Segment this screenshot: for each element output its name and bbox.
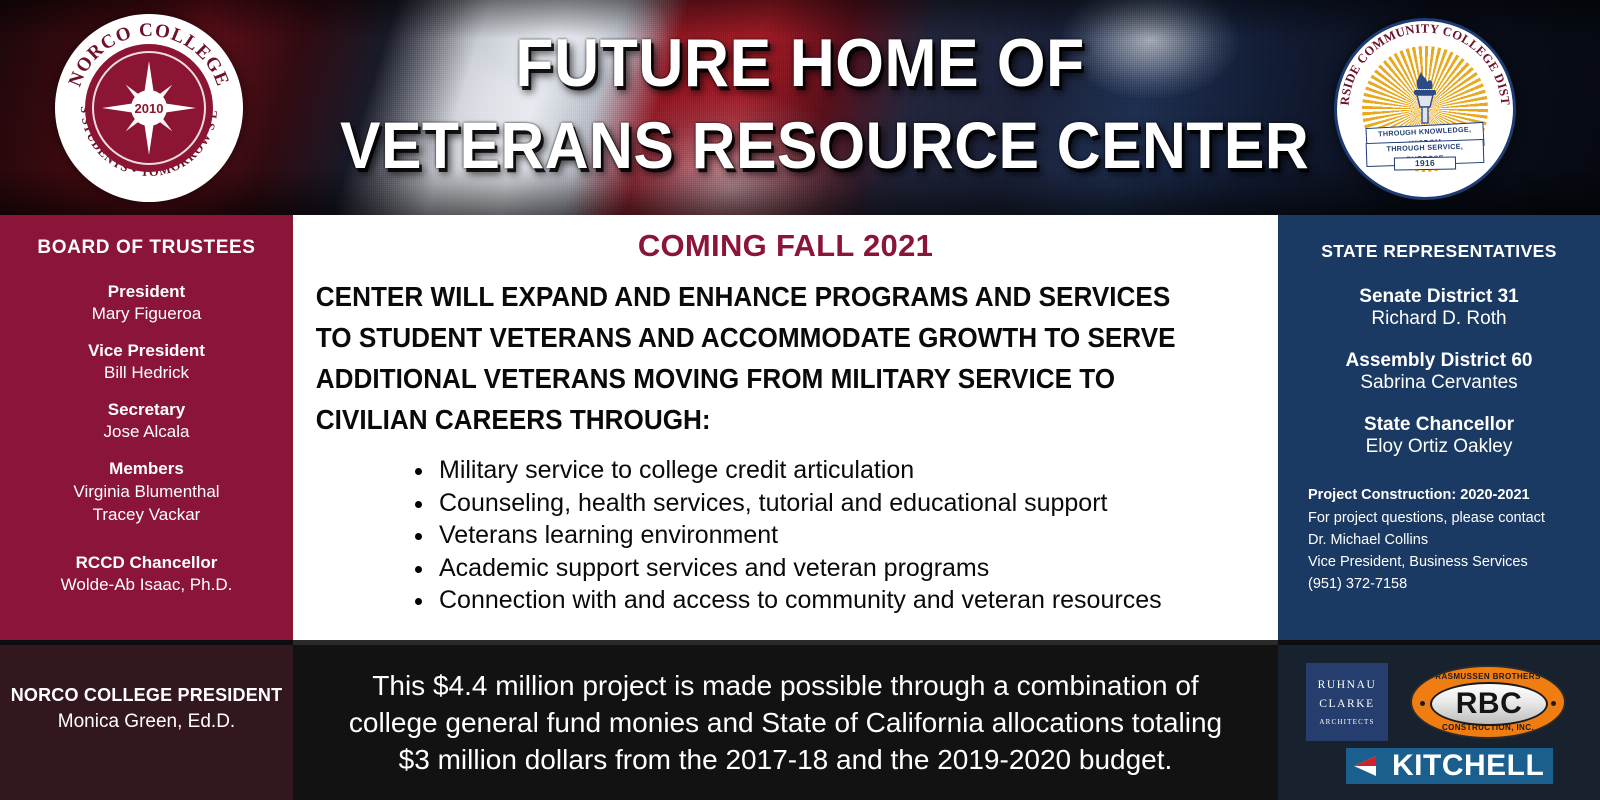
project-contact-name: Dr. Michael Collins [1308, 529, 1600, 551]
assembly-district-60-role: Assembly District 60 [1278, 350, 1600, 372]
senate-district-31: Senate District 31 Richard D. Roth [1278, 286, 1600, 330]
rbc-logo-top-text: RASMUSSEN BROTHERS [1412, 672, 1564, 681]
hero-banner: FUTURE HOME OF VETERANS RESOURCE CENTER … [0, 0, 1600, 215]
trustee-president: President Mary Figueroa [0, 281, 293, 325]
kitchell-triangle-mark-icon [1346, 748, 1386, 784]
ruhnau-logo-line-2: CLARKE [1306, 695, 1388, 714]
rbc-logo-dot-left [1420, 701, 1425, 706]
trustee-member-name-1: Virginia Blumenthal [0, 480, 293, 503]
description-line-3: ADDITIONAL VETERANS MOVING FROM MILITARY… [316, 358, 1208, 399]
funding-line-3: $3 million dollars from the 2017-18 and … [399, 744, 1173, 775]
rbc-logo-bottom-text: CONSTRUCTION, INC. [1412, 723, 1564, 732]
trustee-members: Members Virginia Blumenthal Tracey Vacka… [0, 458, 293, 526]
trustee-member-name-2: Tracey Vackar [0, 503, 293, 526]
ruhnau-logo-line-1: RUHNAU [1306, 676, 1388, 695]
trustee-vice-president: Vice President Bill Hedrick [0, 340, 293, 384]
project-description-panel: COMING FALL 2021 CENTER WILL EXPAND AND … [293, 215, 1278, 640]
list-item: Connection with and access to community … [413, 584, 1278, 617]
state-chancellor: State Chancellor Eloy Ortiz Oakley [1278, 414, 1600, 458]
main-content-row: BOARD OF TRUSTEES President Mary Figuero… [0, 215, 1600, 640]
coming-fall-headline: COMING FALL 2021 [293, 228, 1278, 264]
senate-district-31-name: Richard D. Roth [1278, 308, 1600, 330]
funding-statement-panel: This $4.4 million project is made possib… [293, 645, 1278, 800]
norco-seal-inner-disc: 2010 [85, 44, 213, 172]
trustee-president-role: President [0, 281, 293, 303]
funding-line-2: college general fund monies and State of… [349, 707, 1222, 738]
list-item: Veterans learning environment [413, 519, 1278, 552]
list-item: Counseling, health services, tutorial an… [413, 487, 1278, 520]
state-chancellor-role: State Chancellor [1278, 414, 1600, 436]
rccd-seal-logo: RIVERSIDE COMMUNITY COLLEGE DISTRICT THR… [1334, 18, 1516, 200]
project-construction-dates: Project Construction: 2020-2021 [1308, 484, 1600, 506]
trustee-secretary-role: Secretary [0, 399, 293, 421]
project-contact-intro: For project questions, please contact [1308, 507, 1600, 529]
board-of-trustees-heading: BOARD OF TRUSTEES [0, 237, 293, 259]
funding-statement: This $4.4 million project is made possib… [349, 667, 1222, 778]
description-line-2: TO STUDENT VETERANS AND ACCOMMODATE GROW… [316, 317, 1208, 358]
contractor-logos-panel: RUHNAU CLARKE ARCHITECTS RASMUSSEN BROTH… [1278, 645, 1600, 800]
board-of-trustees-panel: BOARD OF TRUSTEES President Mary Figuero… [0, 215, 293, 640]
project-description-body: CENTER WILL EXPAND AND ENHANCE PROGRAMS … [293, 276, 1229, 440]
torch-icon [1408, 69, 1442, 127]
trustee-president-name: Mary Figueroa [0, 303, 293, 325]
trustee-members-role: Members [0, 458, 293, 480]
page-title-line-2: VETERANS RESOURCE CENTER [340, 104, 1260, 186]
rbc-logo-monogram: RBC [1430, 682, 1548, 726]
funding-line-1: This $4.4 million project is made possib… [372, 670, 1198, 701]
project-contact-title: Vice President, Business Services [1308, 551, 1600, 573]
state-representatives-heading: STATE REPRESENTATIVES [1278, 241, 1600, 262]
rasmussen-brothers-construction-logo: RASMUSSEN BROTHERS RBC CONSTRUCTION, INC… [1410, 665, 1566, 739]
veterans-resource-center-banner: FUTURE HOME OF VETERANS RESOURCE CENTER … [0, 0, 1600, 800]
rbc-logo-dot-right [1551, 701, 1556, 706]
senate-district-31-role: Senate District 31 [1278, 286, 1600, 308]
norco-president-name: Monica Green, Ed.D. [0, 708, 293, 735]
rccd-chancellor-role: RCCD Chancellor [0, 552, 293, 574]
description-line-1: CENTER WILL EXPAND AND ENHANCE PROGRAMS … [316, 276, 1208, 317]
kitchell-wordmark: KITCHELL [1386, 748, 1553, 784]
norco-president-role: NORCO COLLEGE PRESIDENT [0, 682, 293, 708]
rccd-chancellor: RCCD Chancellor Wolde-Ab Isaac, Ph.D. [0, 552, 293, 596]
state-representatives-panel: STATE REPRESENTATIVES Senate District 31… [1278, 215, 1600, 640]
list-item: Academic support services and veteran pr… [413, 552, 1278, 585]
trustee-vice-president-role: Vice President [0, 340, 293, 362]
seal-ribbon-year: 1916 [1394, 156, 1456, 170]
kitchell-logo: KITCHELL [1346, 748, 1553, 784]
assembly-district-60-name: Sabrina Cervantes [1278, 372, 1600, 394]
trustee-secretary: Secretary Jose Alcala [0, 399, 293, 443]
services-bullet-list: Military service to college credit artic… [293, 454, 1278, 617]
seal-year-label: 2010 [131, 90, 167, 126]
description-line-4: CIVILIAN CAREERS THROUGH: [316, 399, 1208, 440]
compass-rose-icon: 2010 [99, 58, 199, 158]
page-title: FUTURE HOME OF VETERANS RESOURCE CENTER [340, 22, 1260, 186]
list-item: Military service to college credit artic… [413, 454, 1278, 487]
assembly-district-60: Assembly District 60 Sabrina Cervantes [1278, 350, 1600, 394]
state-chancellor-name: Eloy Ortiz Oakley [1278, 436, 1600, 458]
trustee-secretary-name: Jose Alcala [0, 421, 293, 443]
norco-college-seal-logo: NORCO COLLEGE TODAY'S STUDENTS • TOMORRO… [55, 14, 243, 202]
page-title-line-1: FUTURE HOME OF [340, 22, 1260, 104]
ruhnau-clarke-architects-logo: RUHNAU CLARKE ARCHITECTS [1306, 663, 1388, 741]
project-contact-phone: (951) 372-7158 [1308, 573, 1600, 595]
footer-row: NORCO COLLEGE PRESIDENT Monica Green, Ed… [0, 645, 1600, 800]
project-contact-block: Project Construction: 2020-2021 For proj… [1278, 484, 1600, 595]
ruhnau-logo-line-3: ARCHITECTS [1306, 714, 1388, 730]
trustee-vice-president-name: Bill Hedrick [0, 362, 293, 384]
norco-college-president-panel: NORCO COLLEGE PRESIDENT Monica Green, Ed… [0, 645, 293, 800]
rccd-chancellor-name: Wolde-Ab Isaac, Ph.D. [0, 574, 293, 596]
